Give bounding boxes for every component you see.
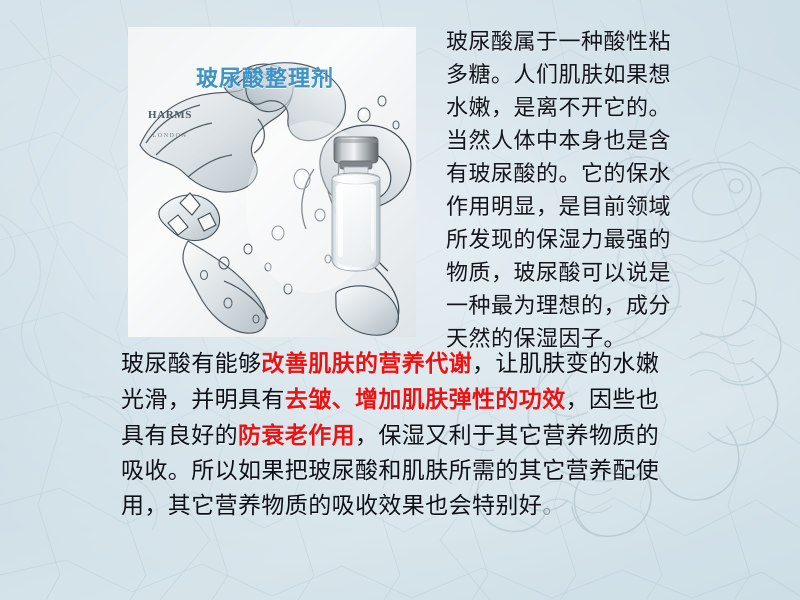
right-text-line: 多糖。人们肌肤如果想 [446,59,794,92]
text-run: 。 [542,493,565,519]
right-text-line: 一种最为理想的，成分 [446,290,794,323]
text-run: ，因些也 [566,387,660,413]
right-text-line: 有玻尿酸的。它的保水 [446,158,794,191]
bottom-paragraph: 玻尿酸有能够改善肌肤的营养代谢，让肌肤变的水嫩光滑，并明具有去皱、增加肌肤弹性的… [121,346,793,524]
text-run: ，让肌肤变的水嫩 [472,351,659,377]
right-text-line: 所发现的保湿力最强的 [446,224,794,257]
slide-canvas: HARMS LONDON 玻尿酸整理剂 玻尿酸属于一种酸性粘 多糖。人们肌肤如果… [0,0,800,600]
bottle-label: HARMS LONDON [128,109,212,139]
bottom-text-line: 吸收。所以如果把玻尿酸和肌肤所需的其它营养配使 [121,454,793,489]
right-text-line: 物质，玻尿酸可以说是 [446,257,794,290]
photo-title: 玻尿酸整理剂 [196,61,334,93]
highlighted-phrase: 防衰老作用 [238,422,355,449]
text-run: 吸收。所以如果把玻尿酸和肌肤所需的其它营养配使 [121,458,659,484]
bottom-text-line: 用，其它营养物质的吸收效果也会特别好。 [121,489,793,524]
text-run: ，保湿又利于其它营养物质的 [355,423,659,449]
bottle-city-text: LONDON [128,133,212,139]
right-text-line: 水嫩，是离不开它的。 [446,92,794,125]
text-run: 玻尿酸有能够 [121,351,261,377]
highlighted-phrase: 改善肌肤的营养代谢 [261,350,472,377]
highlighted-phrase: 去皱、增加肌肤弹性的功效 [285,386,566,413]
right-text-line: 当然人体中本身也是含 [446,125,794,158]
right-column-text: 玻尿酸属于一种酸性粘 多糖。人们肌肤如果想 水嫩，是离不开它的。 当然人体中本身… [446,26,794,356]
serum-bottle-icon [314,135,398,275]
right-text-line: 玻尿酸属于一种酸性粘 [446,26,794,59]
text-run: 光滑，并明具有 [121,387,285,413]
bottom-text-line: 具有良好的防衰老作用，保湿又利于其它营养物质的 [121,418,793,454]
text-run: 具有良好的 [121,423,238,449]
bottom-text-line: 玻尿酸有能够改善肌肤的营养代谢，让肌肤变的水嫩 [121,346,793,382]
text-run: 用，其它营养物质的吸收效果也会特别好 [121,493,542,519]
product-photo: HARMS LONDON 玻尿酸整理剂 [128,27,416,337]
bottom-text-line: 光滑，并明具有去皱、增加肌肤弹性的功效，因些也 [121,382,793,418]
right-text-line: 作用明显，是目前领域 [446,191,794,224]
bottle-brand-text: HARMS [128,109,212,121]
